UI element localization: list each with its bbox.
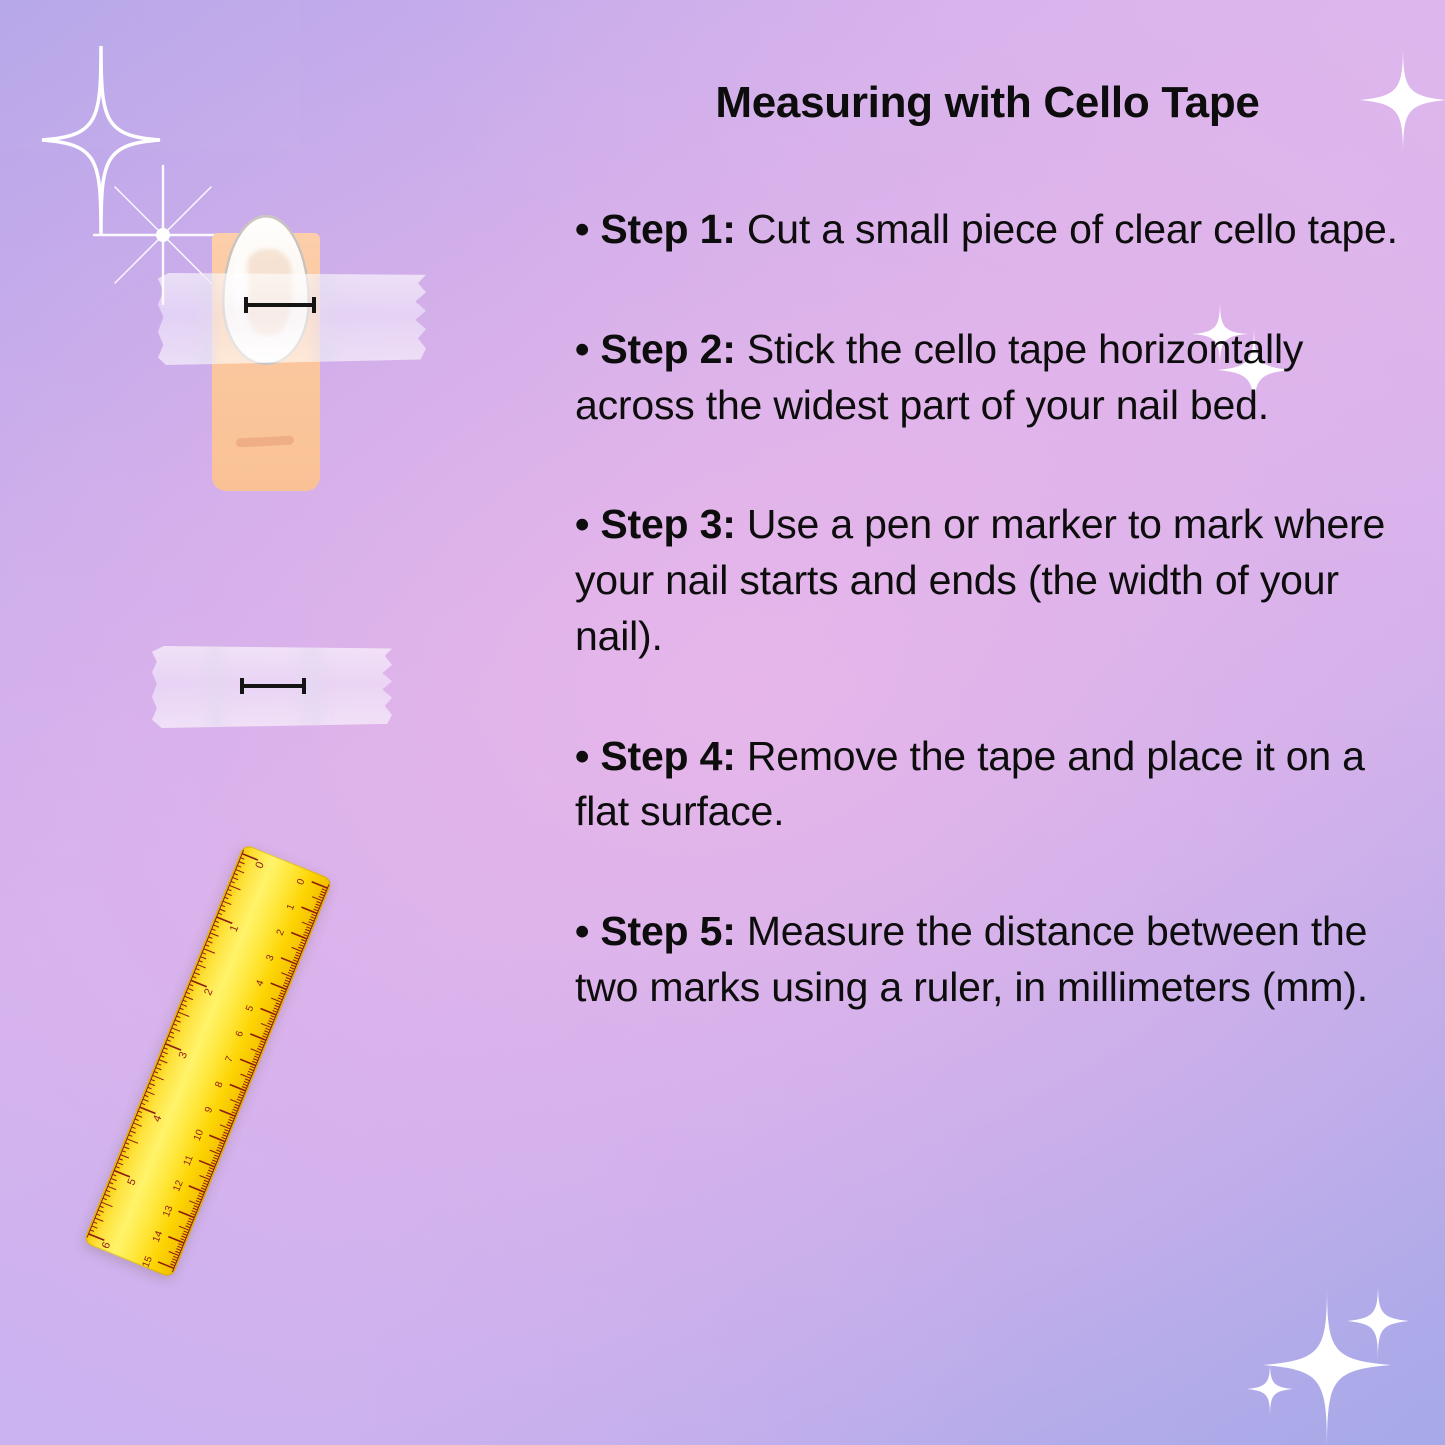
step-label: Step 4: (600, 733, 735, 779)
tape-crease (200, 646, 230, 728)
step-text: Cut a small piece of clear cello tape. (736, 206, 1398, 252)
illustration-tape-strip-with-marks (152, 640, 402, 740)
svg-text:2: 2 (202, 987, 215, 997)
illustration-finger-with-tape (150, 215, 480, 505)
cello-tape-strip-on-nail (158, 273, 426, 365)
svg-text:2: 2 (275, 928, 287, 938)
svg-text:1: 1 (228, 924, 241, 934)
svg-text:5: 5 (244, 1004, 256, 1014)
step-label: Step 3: (600, 501, 735, 547)
step-bullet: • (575, 206, 589, 252)
illustration-ruler: 01234567891011121314150123456 (55, 830, 515, 1300)
step-bullet: • (575, 908, 589, 954)
svg-text:8: 8 (213, 1080, 225, 1090)
step-bullet: • (575, 733, 589, 779)
svg-text:3: 3 (265, 953, 277, 963)
svg-text:15: 15 (141, 1254, 156, 1269)
step-label: Step 5: (600, 908, 735, 954)
svg-text:14: 14 (151, 1229, 166, 1244)
svg-text:10: 10 (192, 1128, 207, 1143)
svg-text:4: 4 (151, 1114, 164, 1124)
step-item-3: • Step 3: Use a pen or marker to mark wh… (575, 497, 1400, 664)
tape-crease (308, 273, 342, 365)
svg-text:0: 0 (295, 877, 307, 887)
svg-text:9: 9 (203, 1105, 215, 1115)
sparkle-bottom-right-medium (1345, 1278, 1411, 1364)
svg-text:11: 11 (182, 1153, 196, 1167)
svg-text:5: 5 (125, 1177, 138, 1187)
nail-width-measure-mark (244, 303, 316, 307)
knuckle-crease (236, 435, 294, 447)
svg-text:7: 7 (224, 1054, 236, 1064)
step-label: Step 2: (600, 326, 735, 372)
page-title: Measuring with Cello Tape (575, 78, 1400, 128)
step-bullet: • (575, 501, 589, 547)
poster-canvas: 01234567891011121314150123456 Measuring … (0, 0, 1445, 1445)
svg-text:3: 3 (177, 1050, 190, 1060)
svg-text:4: 4 (254, 978, 266, 988)
sparkle-bottom-right-small (1245, 1358, 1295, 1420)
svg-text:12: 12 (171, 1178, 186, 1193)
step-label: Step 1: (600, 206, 735, 252)
svg-text:0: 0 (253, 860, 266, 870)
step-item-2: • Step 2: Stick the cello tape horizonta… (575, 322, 1400, 434)
step-item-4: • Step 4: Remove the tape and place it o… (575, 729, 1400, 841)
ruler-markings: 01234567891011121314150123456 (83, 844, 333, 1279)
ruler-body: 01234567891011121314150123456 (83, 844, 333, 1279)
step-item-5: • Step 5: Measure the distance between t… (575, 904, 1400, 1016)
svg-text:6: 6 (234, 1029, 246, 1039)
tape-width-measure-mark (240, 684, 306, 688)
step-item-1: • Step 1: Cut a small piece of clear cel… (575, 202, 1400, 258)
svg-text:13: 13 (161, 1204, 176, 1219)
tape-crease (194, 273, 220, 365)
svg-text:1: 1 (285, 902, 297, 912)
svg-text:6: 6 (100, 1240, 113, 1250)
content-column: Measuring with Cello Tape • Step 1: Cut … (575, 78, 1400, 1016)
step-bullet: • (575, 326, 589, 372)
